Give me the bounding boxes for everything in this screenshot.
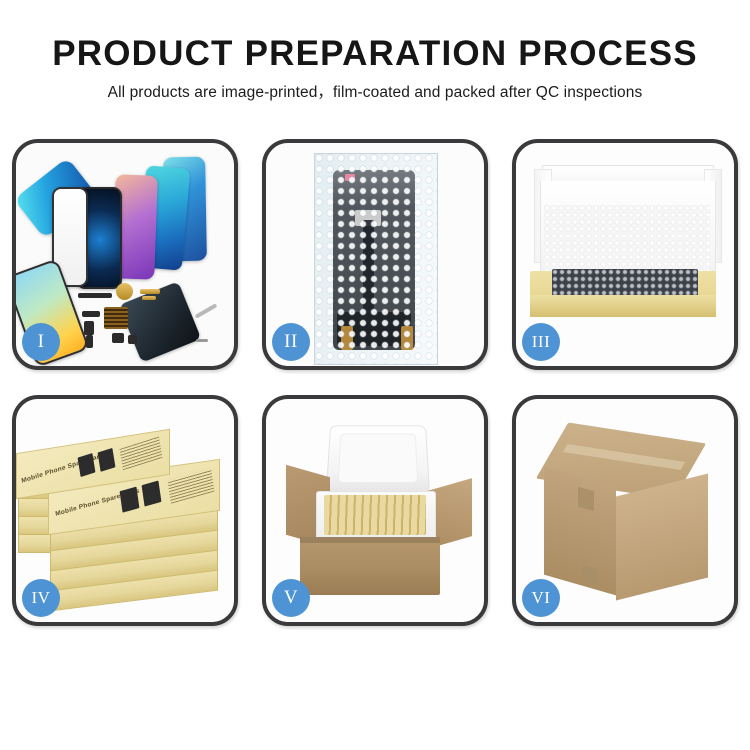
foam-box-lid-inner [338,434,418,483]
step-badge-6-label: VI [532,588,551,608]
white-foam-sheet [544,205,710,277]
yellow-retail-boxes-in-tray [324,495,426,535]
spare-part-speaker [78,293,112,298]
process-step-panel-4[interactable]: Mobile Phone Spare Parts Mobile Phone Sp… [12,395,238,626]
spare-part-vibrator-coil [116,283,133,300]
sealed-carton-left-face [544,467,616,596]
retail-box-chip-back-2 [98,448,116,472]
spare-part-connector-1 [82,311,100,317]
sealed-carton-tape-tab-top [578,487,594,512]
process-step-grid: I II [12,139,739,626]
step-badge-4: IV [22,579,60,617]
retail-box-spec-lines-front [168,468,215,504]
step-badge-3-label: III [532,332,550,352]
spare-part-sim-tray [86,335,93,348]
retail-box-chip-back-1 [78,453,96,477]
step-badge-2-label: II [284,331,298,353]
process-step-panel-3[interactable]: III [512,139,738,370]
retail-box-chip-front-1 [120,487,140,513]
process-step-panel-5[interactable]: V [262,395,488,626]
step-badge-1-label: I [38,331,45,353]
process-step-panel-1[interactable]: I [12,139,238,370]
spare-part-button-flex [142,296,156,300]
spare-part-chip-array [104,307,128,329]
grey-bubble-wrapped-item [552,269,698,297]
step-badge-2: II [272,323,310,361]
step-badge-5: V [272,579,310,617]
carton-front-panel [300,537,440,595]
bubble-texture [315,154,437,364]
process-step-panel-2[interactable]: II [262,139,488,370]
spare-part-connector-2 [84,321,94,335]
spare-part-flex-cable [140,289,160,294]
step-badge-6: VI [522,579,560,617]
bubble-wrap-bag [314,153,438,365]
step-badge-1: I [22,323,60,361]
step-badge-4-label: IV [32,588,51,608]
page-subtitle: All products are image-printed，film-coat… [0,83,750,103]
step-badge-5-label: V [284,587,298,609]
spare-part-bracket [128,335,137,344]
retail-box-spec-lines-back [120,437,163,471]
step-badge-3: III [522,323,560,361]
process-step-panel-6[interactable]: VI [512,395,738,626]
spare-part-screw-set [196,339,208,342]
page-header: PRODUCT PREPARATION PROCESS All products… [0,0,750,103]
foam-box-lid [326,425,430,493]
retail-box-chip-front-2 [142,480,162,506]
yellow-box-front-face [530,295,716,317]
page-title: PRODUCT PREPARATION PROCESS [0,34,750,74]
spare-part-camera-module [112,333,124,343]
